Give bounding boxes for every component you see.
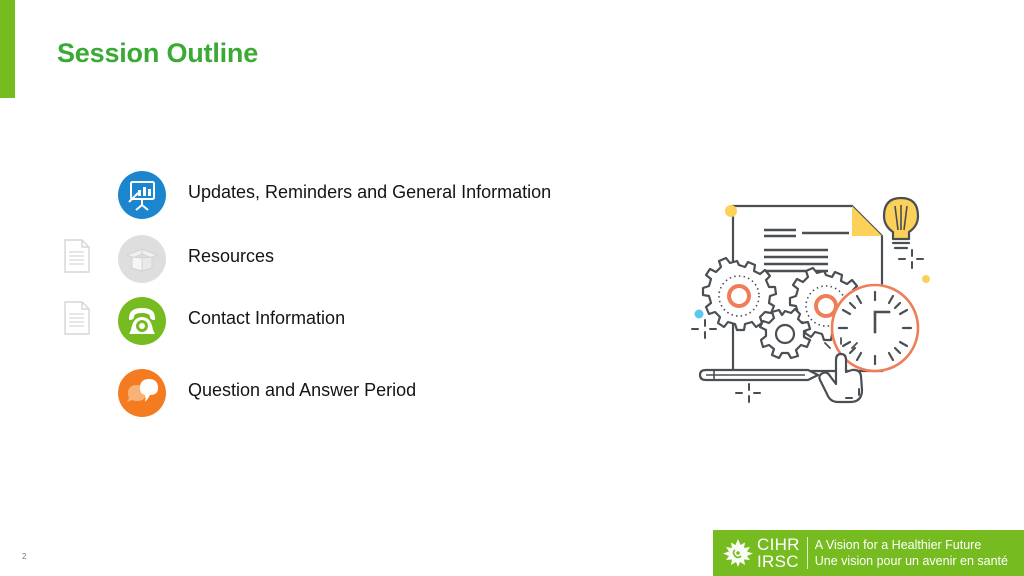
agenda-item-label: Resources	[188, 246, 274, 267]
telephone-icon	[118, 297, 166, 345]
agenda-item-label: Contact Information	[188, 308, 345, 329]
logo-acronym-fr: IRSC	[757, 553, 800, 570]
workflow-illustration	[686, 178, 938, 410]
document-page-icon	[62, 300, 92, 336]
page-number: 2	[22, 552, 26, 561]
agenda-item-label: Updates, Reminders and General Informati…	[188, 182, 551, 203]
left-accent-bar	[0, 0, 15, 98]
logo-taglines: A Vision for a Healthier Future Une visi…	[815, 537, 1024, 569]
agenda-item-label: Question and Answer Period	[188, 380, 416, 401]
slide-canvas: Session Outline	[0, 0, 1024, 576]
open-box-icon	[118, 235, 166, 283]
speech-bubbles-icon	[118, 369, 166, 417]
logo-tagline-en: A Vision for a Healthier Future	[815, 537, 1024, 553]
cihr-logo-band: CIHR IRSC A Vision for a Healthier Futur…	[713, 530, 1024, 576]
logo-divider	[807, 537, 808, 569]
presentation-chart-icon	[118, 171, 166, 219]
logo-acronyms: CIHR IRSC	[757, 536, 800, 570]
maple-leaf-icon	[721, 537, 755, 569]
logo-acronym-en: CIHR	[757, 536, 800, 553]
logo-tagline-fr: Une vision pour un avenir en santé	[815, 553, 1024, 569]
page-title: Session Outline	[57, 38, 258, 69]
document-page-icon	[62, 238, 92, 274]
